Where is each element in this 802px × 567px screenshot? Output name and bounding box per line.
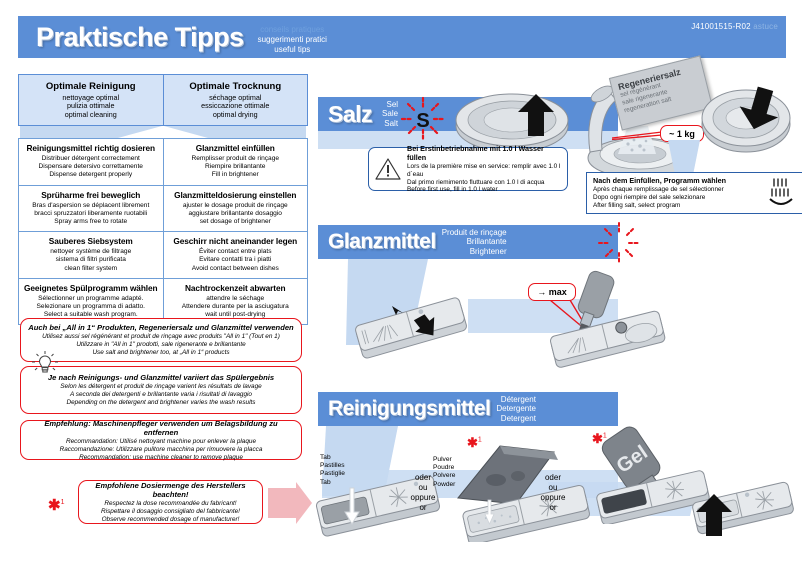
optimal-cleaning-title: Optimale Reinigung bbox=[46, 81, 136, 92]
program-fr: Après chaque remplissage de sel sélectio… bbox=[593, 186, 760, 194]
note-en: Observe recommended dosage of manufactur… bbox=[102, 516, 240, 524]
detergent-subtitles: Détergent Detergente Detergent bbox=[496, 395, 536, 424]
warning-fr: Lors de la première mise en service: rem… bbox=[407, 163, 561, 179]
tip-it: Riempire brillantante bbox=[205, 163, 265, 171]
page-header: Praktische Tipps conseils pratiques sugg… bbox=[18, 16, 786, 58]
tip-it: Evitare contatti tra i piatti bbox=[199, 256, 271, 264]
tips-table: Reinigungsmittel richtig dosieren Distri… bbox=[18, 138, 308, 325]
warning-en: Before first use, fill in 1.0 l water bbox=[407, 186, 561, 194]
table-row: Sprüharme frei beweglich Bras d'aspersio… bbox=[19, 186, 307, 233]
tip-fr: Sélectionner un programme adapté. bbox=[38, 295, 143, 303]
note-title: Je nach Reinigungs- und Glanzmittel vari… bbox=[48, 373, 274, 382]
tip-cell: Glanzmittel einfüllen Remplisser produit… bbox=[163, 139, 308, 185]
tip-fr: attendre le séchage bbox=[206, 295, 264, 303]
tip-fr: Distribuer détergent correctement bbox=[42, 155, 140, 163]
table-row: Sauberes Siebsystem nettoyer système de … bbox=[19, 232, 307, 279]
header-sub-it: suggerimenti pratici bbox=[258, 35, 327, 45]
tip-cell: Geschirr nicht aneinander legen Éviter c… bbox=[163, 232, 308, 278]
tip-it: Attendere durante per la asciugatura bbox=[182, 303, 289, 311]
brightener-sub-it: Brillantante bbox=[442, 237, 507, 247]
salt-title: Salz bbox=[328, 101, 372, 128]
or1-it: oppure bbox=[400, 493, 446, 503]
optimal-drying-title: Optimale Trocknung bbox=[189, 81, 281, 92]
tip-cell: Glanzmitteldosierung einstellen ajuster … bbox=[163, 186, 308, 232]
note-en: Depending on the detergent and brightene… bbox=[66, 399, 255, 407]
detergent-sub-en: Detergent bbox=[496, 414, 536, 424]
tip-it: Dispensare detersivo correttamente bbox=[39, 163, 143, 171]
tip-cell: Sprüharme frei beweglich Bras d'aspersio… bbox=[19, 186, 163, 232]
note-fr: Recommandation: Utilisé nettoyant machin… bbox=[66, 438, 256, 446]
tip-title: Glanzmitteldosierung einstellen bbox=[174, 190, 296, 200]
optimal-cleaning-en: optimal cleaning bbox=[65, 111, 117, 120]
brightener-burst-icon bbox=[598, 222, 640, 264]
table-row: Reinigungsmittel richtig dosieren Distri… bbox=[19, 139, 307, 186]
pink-arrow-icon bbox=[268, 482, 312, 524]
tip-fr: Éviter contact entre plats bbox=[199, 248, 272, 256]
tip-en: set dosage of brightener bbox=[200, 218, 271, 226]
note-it: Rispettare il dosaggio consigliato del f… bbox=[101, 508, 240, 516]
or2-en: or bbox=[530, 503, 576, 513]
brightener-subtitles: Produit de rinçage Brillantante Brighten… bbox=[442, 228, 507, 257]
tip-en: Dispense detergent properly bbox=[49, 171, 132, 179]
asterisk-marker: ✱1 bbox=[48, 498, 64, 513]
tip-fr: Bras d'aspersion se déplacent librement bbox=[32, 202, 149, 210]
tip-cell: Reinigungsmittel richtig dosieren Distri… bbox=[19, 139, 163, 185]
spray-program-icon bbox=[766, 177, 796, 209]
detergent-banner: Reinigungsmittel Détergent Detergente De… bbox=[318, 392, 618, 426]
or2-it: oppure bbox=[530, 493, 576, 503]
tip-fr: nettoyer système de filtrage bbox=[50, 248, 131, 256]
asterisk-number: 1 bbox=[61, 499, 65, 506]
tip-title: Sauberes Siebsystem bbox=[49, 236, 133, 246]
program-it: Dopo ogni riempire del sale selezionare bbox=[593, 194, 760, 202]
note-fr: Selon les détergent et produit de rinçag… bbox=[60, 383, 261, 391]
select-program-box: Nach dem Einfüllen, Programm wählen Aprè… bbox=[586, 172, 802, 214]
warning-triangle-icon bbox=[375, 157, 401, 181]
tip-en: Fill in brightener bbox=[212, 171, 259, 179]
note-box-machine-cleaner: Empfehlung: Maschinenpfleger verwenden u… bbox=[20, 420, 302, 460]
powder-box-illustration bbox=[446, 442, 606, 542]
tip-it: aggiustare brillantante dosaggio bbox=[189, 210, 282, 218]
document-code: J41001515-R02 astuce bbox=[691, 22, 778, 31]
tip-it: Selezionare un programma di adatto. bbox=[37, 303, 146, 311]
or2-de: oder bbox=[530, 473, 576, 483]
tip-en: clean filter system bbox=[64, 265, 117, 273]
tip-fr: Remplisser produit de rinçage bbox=[191, 155, 279, 163]
detergent-sub-it: Detergente bbox=[496, 404, 536, 414]
salt-sub-it: Sale bbox=[382, 109, 398, 119]
note-title: Empfohlene Dosiermenge des Herstellers b… bbox=[85, 481, 256, 499]
note-box-dosage: Empfohlene Dosiermenge des Herstellers b… bbox=[78, 480, 263, 524]
note-it: Raccomandazione: Utilizzare pulitore mac… bbox=[60, 446, 263, 454]
brightener-dispenser-fill bbox=[546, 308, 696, 370]
tip-title: Sprüharme frei beweglich bbox=[41, 190, 140, 200]
brightener-title: Glanzmittel bbox=[328, 230, 436, 254]
header-sub-fr: conseils pratiques bbox=[258, 25, 327, 35]
tab-label-de: Tab bbox=[320, 454, 345, 462]
optimal-drying-en: optimal drying bbox=[213, 111, 258, 120]
program-en: After filling salt, select program bbox=[593, 202, 760, 210]
note-it: Utilizzare in "All in 1" prodotti, sale … bbox=[76, 341, 245, 349]
optimal-results-box: Optimale Reinigung nettoyage optimal pul… bbox=[18, 74, 308, 126]
program-title: Nach dem Einfüllen, Programm wählen bbox=[593, 176, 760, 185]
note-box-wash-results: Je nach Reinigungs- und Glanzmittel vari… bbox=[20, 366, 302, 414]
tip-title: Geeignetes Spülprogramm wählen bbox=[24, 283, 157, 293]
svg-text:S: S bbox=[416, 110, 429, 132]
tip-fr: ajuster le dosage produit de rinçage bbox=[183, 202, 288, 210]
note-en: Recommandation: use machine cleaner to r… bbox=[79, 454, 243, 462]
document-code-value: J41001515-R02 bbox=[691, 22, 751, 31]
note-title: Auch bei „All in 1“ Produkten, Regenerie… bbox=[28, 323, 293, 332]
note-fr: Respectez la dose recommandée du fabrica… bbox=[104, 500, 236, 508]
note-it: A seconda dei detergenti e brillantante … bbox=[70, 391, 252, 399]
header-sub-en: useful tips bbox=[258, 45, 327, 55]
or-separator-2: oder ou oppure or bbox=[530, 473, 576, 513]
detergent-title: Reinigungsmittel bbox=[328, 397, 490, 421]
tip-title: Nachtrockenzeit abwarten bbox=[185, 283, 285, 293]
note-box-all-in-one: Auch bei „All in 1“ Produkten, Regenerie… bbox=[20, 318, 302, 362]
salt-sub-fr: Sel bbox=[382, 100, 398, 110]
optimal-drying-cell: Optimale Trocknung séchage optimal essic… bbox=[163, 75, 308, 125]
tip-it: sistema di filtri purificata bbox=[56, 256, 126, 264]
lightbulb-icon bbox=[28, 348, 62, 378]
brightener-sub-fr: Produit de rinçage bbox=[442, 228, 507, 238]
detergent-sub-fr: Détergent bbox=[496, 395, 536, 405]
note-fr: Utilisez aussi sel régénérant et produit… bbox=[42, 333, 280, 341]
tip-cell: Sauberes Siebsystem nettoyer système de … bbox=[19, 232, 163, 278]
tip-title: Reinigungsmittel richtig dosieren bbox=[26, 143, 155, 153]
tip-it: bracci spruzzatori liberamente ruotabili bbox=[34, 210, 147, 218]
warning-it: Dal primo riemimento fluttuare con 1.0 l… bbox=[407, 179, 561, 187]
warning-title: Bei Erstinbetriebnahme mit 1.0 l Wasser … bbox=[407, 144, 561, 162]
or1-en: or bbox=[400, 503, 446, 513]
dispenser-close-illustration bbox=[688, 472, 798, 540]
tip-title: Glanzmittel einfüllen bbox=[196, 143, 275, 153]
salt-subtitles: Sel Sale Salt bbox=[382, 100, 398, 129]
or2-fr: ou bbox=[530, 483, 576, 493]
salt-burst-icon: S bbox=[400, 96, 446, 142]
document-code-suffix: astuce bbox=[753, 22, 778, 31]
brightener-dispenser-open bbox=[350, 296, 480, 366]
first-use-warning-box: Bei Erstinbetriebnahme mit 1.0 l Wasser … bbox=[368, 147, 568, 191]
tip-title: Geschirr nicht aneinander legen bbox=[173, 236, 297, 246]
page-root: Praktische Tipps conseils pratiques sugg… bbox=[0, 0, 802, 567]
page-title: Praktische Tipps bbox=[36, 22, 244, 53]
note-en: Use salt and brightener too, at „All in … bbox=[92, 349, 229, 357]
brightener-banner: Glanzmittel Produit de rinçage Brillanta… bbox=[318, 225, 618, 259]
note-title: Empfehlung: Maschinenpfleger verwenden u… bbox=[27, 419, 295, 437]
tip-en: Spray arms free to rotate bbox=[54, 218, 127, 226]
tip-en: Avoid contact between dishes bbox=[192, 265, 279, 273]
funnel-connector bbox=[18, 126, 308, 138]
optimal-cleaning-cell: Optimale Reinigung nettoyage optimal pul… bbox=[19, 75, 163, 125]
header-subtitles: conseils pratiques suggerimenti pratici … bbox=[258, 25, 327, 55]
asterisk-symbol: ✱ bbox=[48, 497, 61, 514]
brightener-sub-en: Brightener bbox=[442, 247, 507, 257]
salt-sub-en: Salt bbox=[382, 119, 398, 129]
